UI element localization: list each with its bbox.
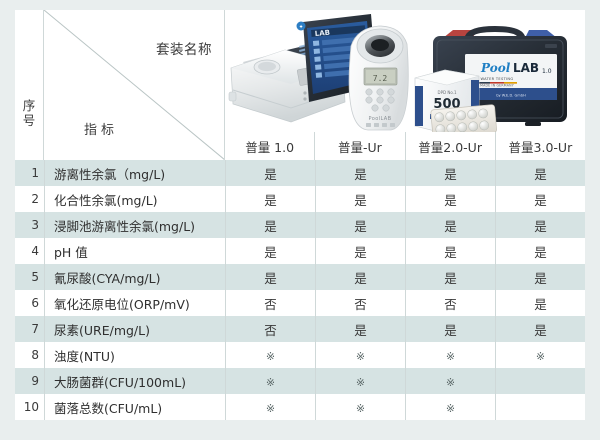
- support-value-cell: 是: [225, 186, 315, 212]
- indicator-name-cell: 浊度(NTU): [44, 342, 225, 368]
- row-number-cell: 10: [15, 394, 44, 420]
- svg-text:DPD No.1: DPD No.1: [437, 90, 456, 95]
- svg-text:LAB: LAB: [314, 29, 330, 38]
- table-row: 7尿素(URE/mg/L)否是是是: [15, 316, 585, 342]
- asterisk-mark-icon: ※: [446, 376, 455, 389]
- svg-text:MADE IN GERMANY: MADE IN GERMANY: [480, 83, 514, 87]
- comparison-table: 序号 套装名称 指标: [15, 10, 585, 420]
- support-value-cell: 是: [495, 186, 585, 212]
- row-number-cell: 1: [15, 160, 44, 186]
- support-value-cell: ※: [495, 342, 585, 368]
- table-row: 3浸脚池游离性余氯(mg/L)是是是是: [15, 212, 585, 238]
- support-value-cell: 是: [315, 160, 405, 186]
- row-number-cell: 3: [15, 212, 44, 238]
- row-number-cell: 7: [15, 316, 44, 342]
- support-value-cell: 否: [315, 290, 405, 316]
- support-value-cell: 是: [495, 316, 585, 342]
- asterisk-mark-icon: ※: [356, 402, 365, 415]
- support-value-cell: 否: [405, 290, 495, 316]
- support-value-cell: 是: [315, 238, 405, 264]
- support-value-cell: ※: [405, 368, 495, 394]
- asterisk-mark-icon: ※: [266, 350, 275, 363]
- svg-text:PoolLAB: PoolLAB: [369, 116, 392, 122]
- svg-text:7.2: 7.2: [373, 74, 388, 83]
- table-row: 8浊度(NTU)※※※※: [15, 342, 585, 368]
- product-column-header-3: 普量3.0-Ur: [495, 132, 585, 160]
- product-photos-illustration: LAB: [225, 10, 585, 132]
- indicator-name-cell: 游离性余氯（mg/L): [44, 160, 225, 186]
- indicator-name-cell: 氰尿酸(CYA/mg/L): [44, 264, 225, 290]
- support-value-cell: 是: [405, 264, 495, 290]
- header-diagonal-cell: 套装名称 指标: [44, 10, 225, 160]
- svg-text:✦: ✦: [299, 24, 304, 31]
- support-value-cell: 否: [225, 290, 315, 316]
- support-value-cell: 是: [225, 212, 315, 238]
- svg-text:by W.E.D. GmbH: by W.E.D. GmbH: [496, 94, 526, 98]
- support-value-cell: 是: [315, 316, 405, 342]
- support-value-cell: 是: [405, 186, 495, 212]
- support-value-cell: ※: [315, 342, 405, 368]
- header-index-label: 指标: [84, 119, 118, 138]
- support-value-cell: 是: [495, 212, 585, 238]
- support-value-cell: 是: [225, 238, 315, 264]
- asterisk-mark-icon: ※: [446, 350, 455, 363]
- support-value-cell: 是: [495, 160, 585, 186]
- indicator-name-cell: 化合性余氯(mg/L): [44, 186, 225, 212]
- indicator-name-cell: 浸脚池游离性余氯(mg/L): [44, 212, 225, 238]
- support-value-cell: 是: [495, 264, 585, 290]
- table-row: 1游离性余氯（mg/L)是是是是: [15, 160, 585, 186]
- row-number-cell: 6: [15, 290, 44, 316]
- header-seq-cell: 序号: [15, 10, 44, 160]
- indicator-name-cell: 尿素(URE/mg/L): [44, 316, 225, 342]
- indicator-name-cell: 氧化还原电位(ORP/mV): [44, 290, 225, 316]
- support-value-cell: 是: [225, 160, 315, 186]
- support-value-cell: [495, 368, 585, 394]
- header-seq-label: 序号: [15, 98, 43, 128]
- product-column-headers: 普量 1.0 普量-Ur 普量2.0-Ur 普量3.0-Ur: [225, 132, 585, 160]
- support-value-cell: 是: [495, 290, 585, 316]
- product-column-header-1: 普量-Ur: [314, 132, 404, 160]
- support-value-cell: 是: [405, 212, 495, 238]
- row-number-cell: 4: [15, 238, 44, 264]
- asterisk-mark-icon: ※: [356, 376, 365, 389]
- row-number-cell: 2: [15, 186, 44, 212]
- asterisk-mark-icon: ※: [536, 350, 545, 363]
- support-value-cell: ※: [315, 368, 405, 394]
- support-value-cell: 是: [405, 238, 495, 264]
- table-header-cell: 序号 套装名称 指标: [15, 10, 585, 160]
- support-value-cell: 否: [225, 316, 315, 342]
- svg-text:WATER TESTING: WATER TESTING: [480, 77, 513, 81]
- product-column-header-2: 普量2.0-Ur: [405, 132, 495, 160]
- table-row: 5氰尿酸(CYA/mg/L)是是是是: [15, 264, 585, 290]
- indicator-name-cell: 大肠菌群(CFU/100mL): [44, 368, 225, 394]
- asterisk-mark-icon: ※: [356, 350, 365, 363]
- asterisk-mark-icon: ※: [446, 402, 455, 415]
- indicator-name-cell: 菌落总数(CFU/mL): [44, 394, 225, 420]
- product-column-header-0: 普量 1.0: [225, 132, 314, 160]
- row-number-cell: 5: [15, 264, 44, 290]
- support-value-cell: ※: [405, 394, 495, 420]
- svg-text:LAB: LAB: [513, 61, 539, 75]
- product-photo-band: LAB: [225, 10, 585, 132]
- support-value-cell: ※: [405, 342, 495, 368]
- support-value-cell: 是: [225, 264, 315, 290]
- table-row: 6氧化还原电位(ORP/mV)否否否是: [15, 290, 585, 316]
- table-row: 9大肠菌群(CFU/100mL)※※※: [15, 368, 585, 394]
- row-number-cell: 9: [15, 368, 44, 394]
- support-value-cell: ※: [315, 394, 405, 420]
- handheld-photometer-photo: 7.2 PoolLAB: [349, 26, 408, 130]
- header-kit-name-label: 套装名称: [156, 38, 212, 58]
- support-value-cell: 是: [315, 186, 405, 212]
- diagonal-divider-line: [44, 10, 225, 160]
- indicator-name-cell: pH 值: [44, 238, 225, 264]
- table-row: 4 pH 值是是是是: [15, 238, 585, 264]
- support-value-cell: ※: [225, 342, 315, 368]
- asterisk-mark-icon: ※: [266, 402, 275, 415]
- support-value-cell: 是: [315, 212, 405, 238]
- support-value-cell: ※: [225, 368, 315, 394]
- support-value-cell: ※: [225, 394, 315, 420]
- svg-text:Pool: Pool: [480, 61, 511, 75]
- support-value-cell: 是: [405, 316, 495, 342]
- support-value-cell: 是: [405, 160, 495, 186]
- support-value-cell: 是: [495, 238, 585, 264]
- support-value-cell: 是: [315, 264, 405, 290]
- support-value-cell: [495, 394, 585, 420]
- asterisk-mark-icon: ※: [266, 376, 275, 389]
- table-row: 2化合性余氯(mg/L)是是是是: [15, 186, 585, 212]
- table-row: 10菌落总数(CFU/mL)※※※: [15, 394, 585, 420]
- row-number-cell: 8: [15, 342, 44, 368]
- table-header-row: 序号 套装名称 指标: [15, 10, 585, 160]
- svg-text:1.0: 1.0: [542, 68, 552, 75]
- product-comparison-table-image: 序号 套装名称 指标: [0, 0, 600, 440]
